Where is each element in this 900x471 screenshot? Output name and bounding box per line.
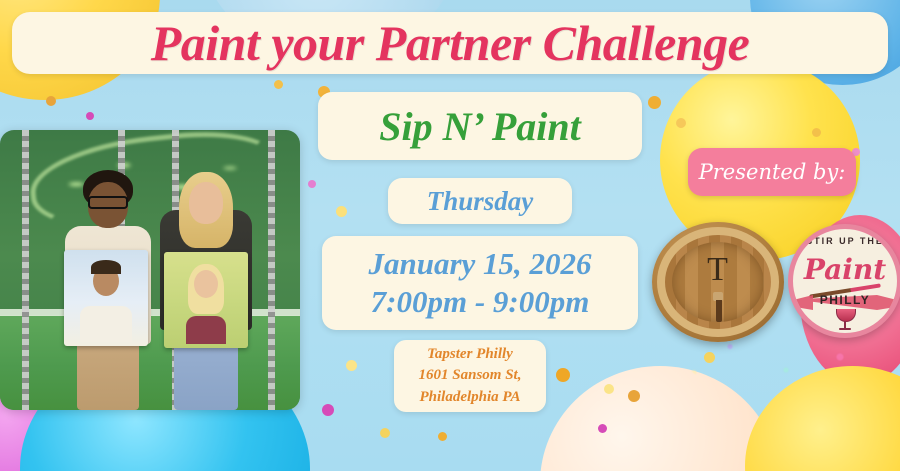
confetti-dot [556, 368, 570, 382]
participant-right [150, 160, 262, 410]
logo-city-text: PHILLY [793, 293, 897, 307]
participant-face [189, 182, 223, 224]
confetti-dot [346, 360, 357, 371]
confetti-dot [704, 352, 715, 363]
wine-glass-bowl [836, 309, 856, 322]
confetti-dot [308, 180, 316, 188]
confetti-dot [336, 206, 347, 217]
portrait-body [80, 306, 132, 342]
wine-glass-icon [835, 309, 855, 331]
participant-glasses [88, 196, 128, 209]
event-flyer: Paint your Partner Challenge Sip N’ Pain… [0, 0, 900, 471]
confetti-dot [812, 128, 821, 137]
venue-city: Philadelphia PA [420, 387, 521, 408]
event-date: January 15, 2026 [368, 246, 591, 282]
confetti-dot [598, 424, 607, 433]
participant-left [52, 162, 164, 410]
venue-name: Tapster Philly [427, 344, 513, 365]
wine-glass-foot [839, 328, 851, 330]
venue-banner: Tapster Philly 1601 Sansom St, Philadelp… [394, 340, 546, 412]
logo-arc-text: STIR UP THE [793, 236, 897, 246]
confetti-dot [628, 390, 640, 402]
tapster-barrel-logo: T [652, 222, 784, 342]
confetti-dot [648, 96, 661, 109]
portrait-head [194, 270, 218, 298]
presented-by-label: Presented by: [699, 160, 846, 184]
event-day: Thursday [427, 186, 534, 217]
swing-chain [22, 130, 29, 410]
page-title: Paint your Partner Challenge [151, 14, 750, 72]
confetti-dot [46, 96, 56, 106]
event-photo [0, 130, 300, 410]
title-banner: Paint your Partner Challenge [12, 12, 888, 74]
stir-up-the-paint-logo: STIR UP THE Paint PHILLY [788, 224, 900, 338]
barrel-letter: T [652, 251, 784, 289]
datetime-banner: January 15, 2026 7:00pm - 9:00pm [322, 236, 638, 330]
portrait-canvas-right [164, 252, 248, 348]
logo-wordmark: Paint [793, 253, 897, 286]
portrait-canvas-left [64, 250, 148, 346]
event-time: 7:00pm - 9:00pm [371, 284, 590, 320]
confetti-dot [380, 428, 390, 438]
confetti-dot [322, 404, 334, 416]
confetti-dot [438, 432, 447, 441]
subtitle-banner: Sip N’ Paint [318, 92, 642, 160]
barrel-tap-icon [706, 292, 730, 322]
confetti-dot [676, 118, 686, 128]
confetti-dot [604, 384, 614, 394]
swing-chain [268, 130, 275, 410]
portrait-hair [91, 260, 121, 274]
portrait-body [186, 316, 226, 344]
wine-glass-stem [844, 321, 846, 328]
confetti-dot [86, 112, 94, 120]
event-subtitle: Sip N’ Paint [379, 103, 581, 150]
day-banner: Thursday [388, 178, 572, 224]
presented-by-badge: Presented by: [688, 148, 856, 196]
confetti-dot [274, 80, 283, 89]
venue-street: 1601 Sansom St, [419, 365, 522, 386]
